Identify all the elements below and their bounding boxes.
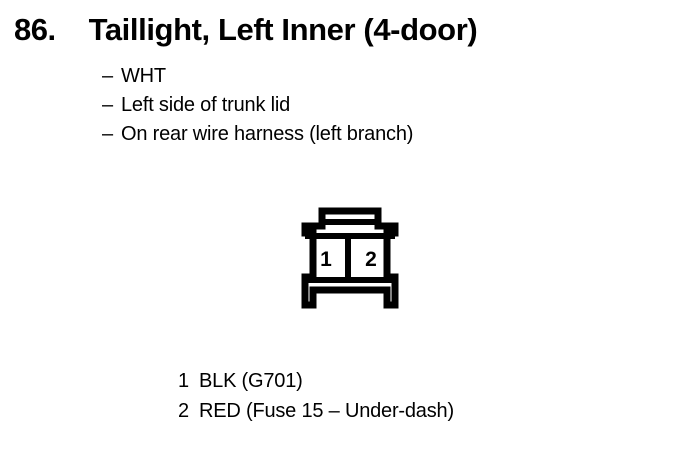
pin-description: RED (Fuse 15 – Under-dash) (199, 400, 454, 422)
cavity-label-1: 1 (320, 248, 332, 271)
attribute-item: –Left side of trunk lid (102, 91, 413, 120)
attribute-text: WHT (121, 65, 166, 87)
attribute-item: –On rear wire harness (left branch) (102, 120, 413, 149)
attribute-list: –WHT –Left side of trunk lid –On rear wi… (102, 62, 413, 149)
pin-number: 2 (178, 396, 199, 426)
connector-outline-icon: 1 2 (282, 204, 418, 312)
attribute-text: On rear wire harness (left branch) (121, 123, 413, 145)
entry-header: 86. Taillight, Left Inner (4-door) (14, 14, 477, 45)
entry-title: Taillight, Left Inner (4-door) (89, 14, 478, 45)
attribute-item: –WHT (102, 62, 413, 91)
dash-bullet-icon: – (102, 120, 121, 149)
entry-number: 86. (14, 14, 56, 45)
cavity-label-2: 2 (365, 248, 377, 271)
pin-legend-row: 2RED (Fuse 15 – Under-dash) (178, 396, 454, 426)
dash-bullet-icon: – (102, 91, 121, 120)
attribute-text: Left side of trunk lid (121, 94, 290, 116)
dash-bullet-icon: – (102, 62, 121, 91)
connector-reference-page: 86. Taillight, Left Inner (4-door) –WHT … (0, 0, 688, 466)
connector-diagram: 1 2 (282, 204, 418, 312)
pin-number: 1 (178, 366, 199, 396)
pin-legend-row: 1BLK (G701) (178, 366, 454, 396)
pin-description: BLK (G701) (199, 370, 303, 392)
pin-legend: 1BLK (G701) 2RED (Fuse 15 – Under-dash) (178, 366, 454, 426)
